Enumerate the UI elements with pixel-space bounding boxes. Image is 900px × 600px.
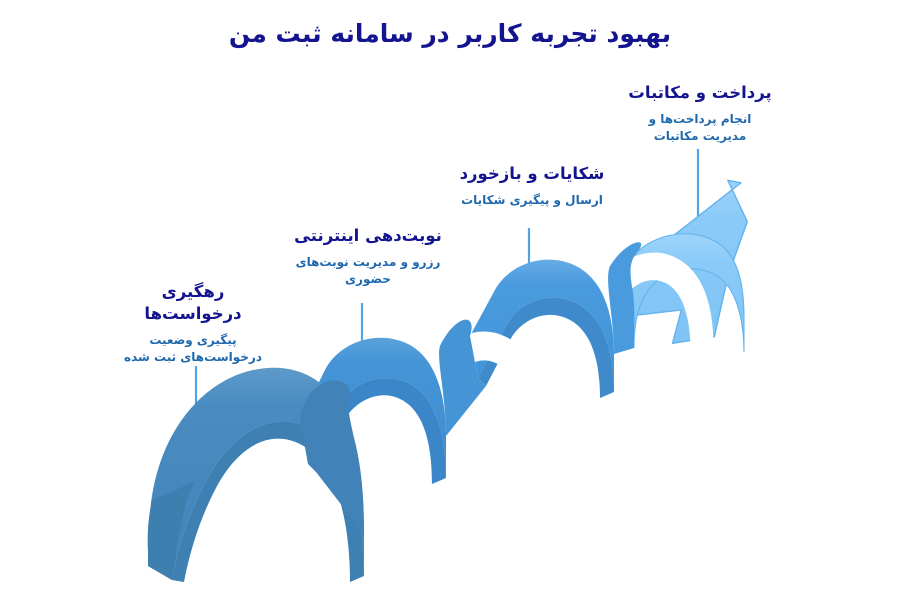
stage-label-1[interactable]: رهگیری درخواست‌ها پیگیری وضعیت درخواست‌ه… <box>118 281 268 366</box>
infographic-canvas: بهبود تجربه کاربر در سامانه ثبت من <box>0 0 900 600</box>
stage-1-description: پیگیری وضعیت درخواست‌های ثبت شده <box>118 332 268 367</box>
stage-label-4[interactable]: پرداخت و مکاتبات انجام پرداخت‌ها و مدیری… <box>620 82 780 146</box>
stage-1-title: رهگیری درخواست‌ها <box>118 281 268 325</box>
stage-3-description: ارسال و پیگیری شکایات <box>452 192 612 209</box>
ribbon-segment-3 <box>470 242 708 398</box>
stage-4-title: پرداخت و مکاتبات <box>620 82 780 104</box>
stage-4-description: انجام پرداخت‌ها و مدیریت مکاتبات <box>620 111 780 146</box>
stage-2-description: رزرو و مدیریت نوبت‌های حضوری <box>288 254 448 289</box>
stage-label-3[interactable]: شکایات و بازخورد ارسال و پیگیری شکایات <box>452 163 612 209</box>
stage-2-title: نوبت‌دهی اینترنتی <box>288 225 448 247</box>
stage-label-2[interactable]: نوبت‌دهی اینترنتی رزرو و مدیریت نوبت‌های… <box>288 225 448 289</box>
stage-3-title: شکایات و بازخورد <box>452 163 612 185</box>
